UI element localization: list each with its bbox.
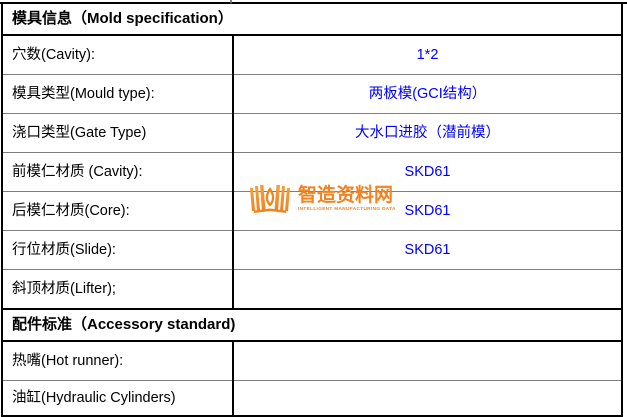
spreadsheet-canvas: 模具信息（Mold specification） 穴数(Cavity): 1*2… bbox=[0, 0, 627, 405]
table-row-hot-runner: 热嘴(Hot runner): bbox=[2, 341, 622, 381]
value-text-cavity: 1*2 bbox=[417, 47, 439, 64]
table-body: 模具信息（Mold specification） 穴数(Cavity): 1*2… bbox=[2, 4, 622, 416]
row-label-gate-type: 浇口类型(Gate Type) bbox=[2, 114, 233, 153]
section-header-row-accessory-standard: 配件标准（Accessory standard) bbox=[2, 309, 622, 341]
section-header-label-accessory: 配件标准（Accessory standard) bbox=[2, 309, 622, 341]
row-value-mould-type[interactable]: 两板模(GCI结构） bbox=[233, 75, 622, 114]
value-text-mould-type: 两板模(GCI结构） bbox=[369, 86, 487, 103]
table-row-gate-type: 浇口类型(Gate Type) 大水口进胶（潜前模） bbox=[2, 114, 622, 153]
row-label-slide-material: 行位材质(Slide): bbox=[2, 231, 233, 270]
table-row-core-material: 后模仁材质(Core): SKD61 bbox=[2, 192, 622, 231]
row-value-hot-runner[interactable] bbox=[233, 341, 622, 381]
table-row-slide-material: 行位材质(Slide): SKD61 bbox=[2, 231, 622, 270]
table-row-mould-type: 模具类型(Mould type): 两板模(GCI结构） bbox=[2, 75, 622, 114]
section-header-row-mold-specification: 模具信息（Mold specification） bbox=[2, 4, 622, 35]
value-text-slide-material: SKD61 bbox=[405, 242, 451, 259]
row-value-cavity-material[interactable]: SKD61 bbox=[233, 153, 622, 192]
table-row-hydraulic-cylinders: 油缸(Hydraulic Cylinders) bbox=[2, 381, 622, 417]
row-label-lifter-material: 斜顶材质(Lifter); bbox=[2, 270, 233, 310]
table-row-lifter-material: 斜顶材质(Lifter); bbox=[2, 270, 622, 310]
row-label-mould-type: 模具类型(Mould type): bbox=[2, 75, 233, 114]
row-value-slide-material[interactable]: SKD61 bbox=[233, 231, 622, 270]
row-label-cavity-material: 前模仁材质 (Cavity): bbox=[2, 153, 233, 192]
section-header-label: 模具信息（Mold specification） bbox=[2, 4, 622, 35]
table-row-cavity: 穴数(Cavity): 1*2 bbox=[2, 35, 622, 75]
table-row-cavity-material: 前模仁材质 (Cavity): SKD61 bbox=[2, 153, 622, 192]
row-value-lifter-material[interactable] bbox=[233, 270, 622, 310]
row-value-hydraulic-cylinders[interactable] bbox=[233, 381, 622, 417]
row-value-gate-type[interactable]: 大水口进胶（潜前模） bbox=[233, 114, 622, 153]
mold-specification-table: 模具信息（Mold specification） 穴数(Cavity): 1*2… bbox=[1, 4, 623, 417]
value-text-core-material: SKD61 bbox=[405, 203, 451, 220]
row-label-core-material: 后模仁材质(Core): bbox=[2, 192, 233, 231]
row-label-hot-runner: 热嘴(Hot runner): bbox=[2, 341, 233, 381]
row-label-cavity: 穴数(Cavity): bbox=[2, 35, 233, 75]
row-value-cavity[interactable]: 1*2 bbox=[233, 35, 622, 75]
row-value-core-material[interactable]: SKD61 bbox=[233, 192, 622, 231]
value-text-cavity-material: SKD61 bbox=[405, 164, 451, 181]
value-text-gate-type: 大水口进胶（潜前模） bbox=[355, 125, 500, 142]
row-label-hydraulic-cylinders: 油缸(Hydraulic Cylinders) bbox=[2, 381, 233, 417]
